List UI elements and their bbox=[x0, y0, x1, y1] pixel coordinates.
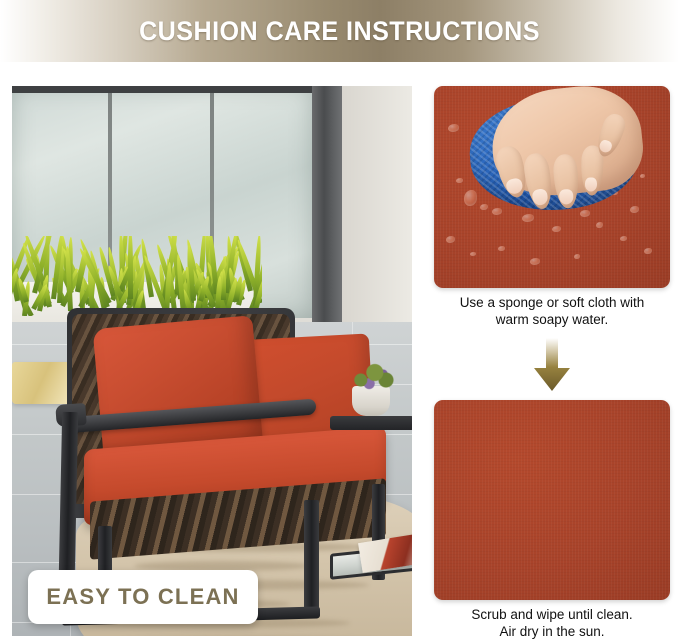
arrow-down-icon bbox=[532, 338, 572, 392]
care-steps-panel: Use a sponge or soft cloth with warm soa… bbox=[434, 86, 670, 638]
clean-cushion-fabric bbox=[434, 400, 670, 600]
chair-leg bbox=[304, 500, 319, 618]
step-1-caption-line-1: Use a sponge or soft cloth with bbox=[430, 294, 674, 311]
header-banner: CUSHION CARE INSTRUCTIONS bbox=[0, 0, 679, 62]
right-wall bbox=[342, 86, 412, 336]
grass-blade bbox=[127, 236, 132, 299]
fingernail bbox=[559, 189, 574, 205]
water-droplet bbox=[470, 252, 476, 256]
fingernail bbox=[598, 139, 613, 154]
water-droplet bbox=[480, 204, 488, 210]
water-droplet bbox=[574, 254, 580, 259]
water-droplet bbox=[498, 246, 505, 251]
fingernail bbox=[585, 177, 597, 191]
water-droplet bbox=[580, 210, 590, 217]
easy-to-clean-badge: EASY TO CLEAN bbox=[28, 570, 258, 624]
water-droplet bbox=[596, 222, 603, 228]
potted-plant bbox=[344, 362, 400, 392]
water-droplet bbox=[620, 236, 627, 241]
step-2-caption-line-2: Air dry in the sun. bbox=[430, 623, 674, 640]
step-1-caption: Use a sponge or soft cloth with warm soa… bbox=[430, 294, 674, 328]
water-droplet bbox=[630, 206, 639, 213]
side-table bbox=[330, 416, 412, 430]
fingernail bbox=[505, 177, 524, 195]
badge-label: EASY TO CLEAN bbox=[46, 584, 239, 610]
water-droplet bbox=[530, 258, 540, 265]
water-droplet bbox=[448, 124, 459, 132]
step-2-caption-line-1: Scrub and wipe until clean. bbox=[430, 606, 674, 623]
step-2-caption: Scrub and wipe until clean. Air dry in t… bbox=[430, 606, 674, 640]
water-droplet bbox=[640, 174, 645, 178]
water-droplet bbox=[552, 226, 561, 232]
page-title: CUSHION CARE INSTRUCTIONS bbox=[139, 16, 540, 47]
door-header-beam bbox=[12, 86, 317, 93]
door-frame bbox=[312, 86, 342, 322]
step-1-caption-line-2: warm soapy water. bbox=[430, 311, 674, 328]
water-droplet bbox=[522, 214, 534, 222]
water-droplet bbox=[446, 236, 455, 243]
water-droplet bbox=[456, 178, 463, 183]
water-droplet bbox=[644, 248, 652, 254]
step-1-image bbox=[434, 86, 670, 288]
water-droplet bbox=[492, 208, 502, 215]
fingernail bbox=[531, 188, 548, 206]
step-2-image bbox=[434, 400, 670, 600]
ornamental-grass bbox=[12, 236, 262, 316]
patio-scene: EASY TO CLEAN bbox=[12, 86, 412, 636]
water-droplet bbox=[464, 190, 477, 206]
patio-chair-photo-panel: EASY TO CLEAN bbox=[12, 86, 412, 636]
